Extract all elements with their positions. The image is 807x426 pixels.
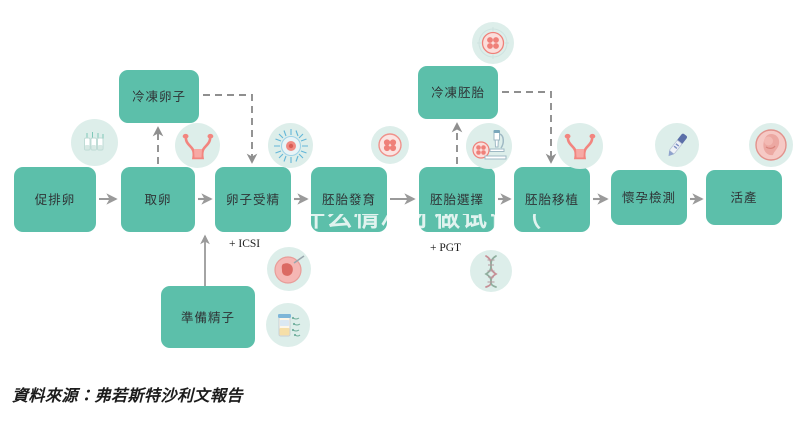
annotation-icsi: + ICSI xyxy=(229,238,260,250)
step-box-embryo-development[interactable]: 胚胎發育 xyxy=(311,167,387,232)
step-box-live-birth[interactable]: 活產 xyxy=(706,170,782,225)
uterus-icon xyxy=(175,123,220,168)
dna-helix-icon xyxy=(470,250,512,292)
step-box-fertilization[interactable]: 卵子受精 xyxy=(215,167,291,232)
fertilized-egg-icon xyxy=(268,123,313,168)
embryo-icon xyxy=(371,126,409,164)
uterus-icon xyxy=(557,123,603,169)
fetus-icon xyxy=(749,123,793,167)
step-box-embryo-transfer[interactable]: 胚胎移植 xyxy=(514,167,590,232)
pregnancy-test-icon xyxy=(655,123,699,167)
step-box-pregnancy-test[interactable]: 懷孕檢測 xyxy=(611,170,687,225)
annotation-pgt: + PGT xyxy=(430,242,461,254)
frozen-embryo-icon xyxy=(472,22,514,64)
step-box-egg-retrieval[interactable]: 取卵 xyxy=(121,167,195,232)
branch-box-frozen-embryo[interactable]: 冷凍胚胎 xyxy=(418,66,498,119)
sperm-sample-icon xyxy=(266,303,310,347)
diagram-canvas: 促排卵 取卵 卵子受精 胚胎發育 胚胎選擇 胚胎移植 懷孕檢測 活產 冷凍卵子 … xyxy=(0,0,807,426)
branch-box-prepare-sperm[interactable]: 準備精子 xyxy=(161,286,255,348)
step-box-embryo-selection[interactable]: 胚胎選擇 xyxy=(419,167,495,232)
source-note: 資料來源：弗若斯特沙利文報告 xyxy=(12,382,243,406)
sperm-meets-egg-icon xyxy=(267,247,311,291)
vials-icon xyxy=(71,119,118,166)
step-box-promote-ovulation[interactable]: 促排卵 xyxy=(14,167,96,232)
microscope-icon xyxy=(466,123,512,169)
branch-box-frozen-eggs[interactable]: 冷凍卵子 xyxy=(119,70,199,123)
